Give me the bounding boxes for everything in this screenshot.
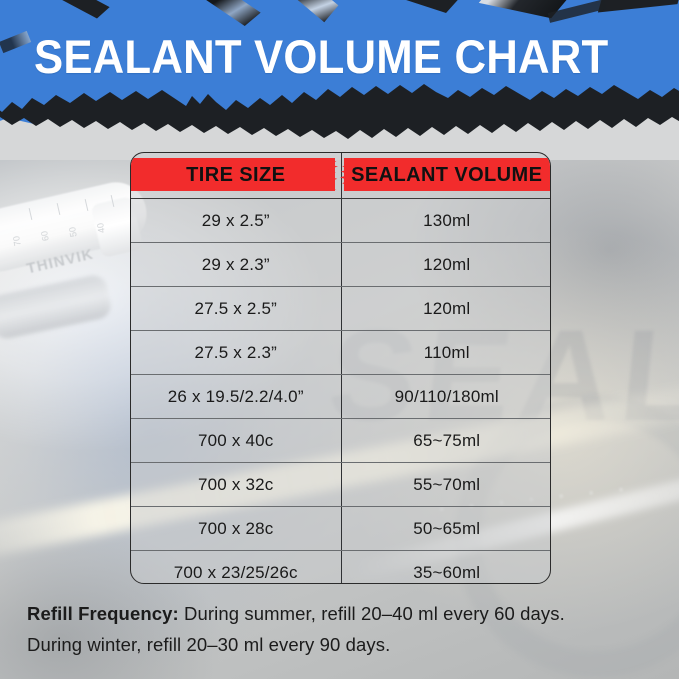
cell-sealant-volume: 120ml [341, 287, 551, 331]
page-title: SEALANT VOLUME CHART [34, 29, 608, 84]
table-row: 27.5 x 2.3” 110ml [131, 331, 551, 375]
cell-tire-size: 700 x 28c [131, 507, 341, 551]
cell-tire-size: 27.5 x 2.3” [131, 331, 341, 375]
cell-sealant-volume: 120ml [341, 243, 551, 287]
table-row: 27.5 x 2.5” 120ml [131, 287, 551, 331]
table-row: 700 x 40c 65~75ml [131, 419, 551, 463]
cell-sealant-volume: 90/110/180ml [341, 375, 551, 419]
brush-fleck-icon [0, 31, 31, 53]
refill-frequency-line2: During winter, refill 20–30 ml every 90 … [27, 629, 657, 660]
cell-sealant-volume: 55~70ml [341, 463, 551, 507]
brush-fleck-icon [193, 0, 260, 26]
cell-tire-size: 700 x 40c [131, 419, 341, 463]
column-header-tire-size-label: TIRE SIZE [131, 153, 341, 198]
brush-fleck-icon [598, 0, 679, 12]
cell-tire-size: 700 x 23/25/26c [131, 551, 341, 585]
sealant-volume-chart-infographic: SEALAN 70 60 50 40 THINVIK SEALANT VOLUM… [0, 0, 679, 679]
table-row: 29 x 2.5” 130ml [131, 199, 551, 243]
brush-fleck-icon [56, 0, 109, 18]
table-row: 700 x 32c 55~70ml [131, 463, 551, 507]
column-header-sealant-volume-label: SEALANT VOLUME [342, 153, 552, 198]
refill-frequency-line1: During summer, refill 20–40 ml every 60 … [179, 603, 565, 624]
cell-tire-size: 29 x 2.3” [131, 243, 341, 287]
table-row: 29 x 2.3” 120ml [131, 243, 551, 287]
table-body: 29 x 2.5” 130ml 29 x 2.3” 120ml 27.5 x 2… [131, 199, 551, 585]
table-row: 700 x 28c 50~65ml [131, 507, 551, 551]
brush-fleck-icon [294, 0, 339, 22]
refill-frequency-label: Refill Frequency: [27, 603, 179, 624]
column-header-tire-size: TIRE SIZE [131, 153, 341, 199]
bottle-tick-40: 40 [95, 222, 107, 234]
cell-sealant-volume: 50~65ml [341, 507, 551, 551]
cell-sealant-volume: 65~75ml [341, 419, 551, 463]
brush-fleck-icon [393, 0, 459, 13]
header-banner: SEALANT VOLUME CHART [0, 0, 679, 132]
bottle-tick-50: 50 [67, 226, 79, 238]
cell-tire-size: 27.5 x 2.5” [131, 287, 341, 331]
cell-tire-size: 700 x 32c [131, 463, 341, 507]
table-row: 700 x 23/25/26c 35~60ml [131, 551, 551, 585]
bottle-tick-60: 60 [39, 230, 51, 242]
cell-sealant-volume: 35~60ml [341, 551, 551, 585]
sealant-volume-table: TIRE SIZE SEALANT VOLUME 29 x 2.5” 130ml… [130, 152, 551, 584]
table-header-row: TIRE SIZE SEALANT VOLUME [131, 153, 551, 199]
bottle-tick-70: 70 [11, 235, 23, 247]
table-row: 26 x 19.5/2.2/4.0” 90/110/180ml [131, 375, 551, 419]
refill-frequency-note: Refill Frequency: During summer, refill … [27, 598, 657, 660]
cell-sealant-volume: 130ml [341, 199, 551, 243]
column-header-sealant-volume: SEALANT VOLUME [341, 153, 551, 199]
cell-tire-size: 29 x 2.5” [131, 199, 341, 243]
cell-tire-size: 26 x 19.5/2.2/4.0” [131, 375, 341, 419]
cell-sealant-volume: 110ml [341, 331, 551, 375]
